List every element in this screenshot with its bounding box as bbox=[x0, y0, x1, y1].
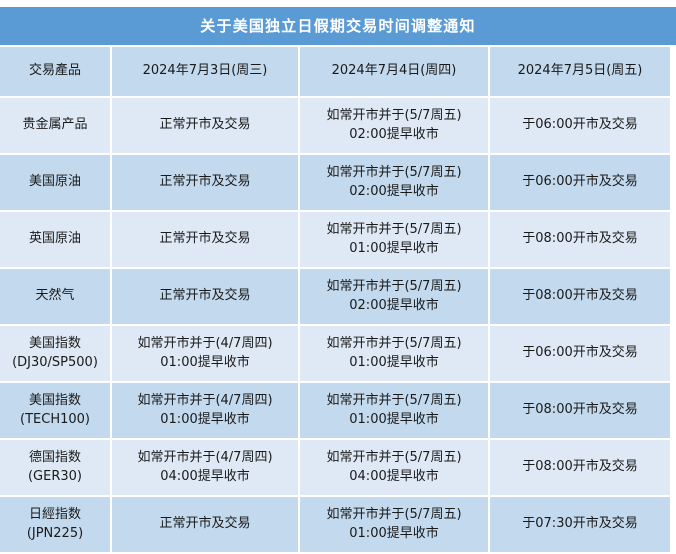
notice-container: 关于美国独立日假期交易时间调整通知 交易產品 2024年7月3日(周三) 202… bbox=[0, 0, 676, 554]
table-row: 天然气 正常开市及交易 如常开市并于(5/7周五) 02:00提早收市 于08:… bbox=[0, 269, 670, 326]
cell-line-2: 01:00提早收市 bbox=[304, 525, 484, 544]
cell-day2: 如常开市并于(5/7周五) 02:00提早收市 bbox=[300, 98, 490, 155]
cell-line-2: 01:00提早收市 bbox=[304, 240, 484, 259]
table-header: 交易產品 2024年7月3日(周三) 2024年7月4日(周四) 2024年7月… bbox=[0, 47, 670, 98]
cell-day1: 如常开市并于(4/7周四) 01:00提早收市 bbox=[112, 326, 300, 383]
cell-day2: 如常开市并于(5/7周五) 04:00提早收市 bbox=[300, 440, 490, 497]
cell-product: 美国指数 (DJ30/SP500) bbox=[0, 326, 112, 383]
cell-line-1: 如常开市并于(5/7周五) bbox=[304, 506, 484, 525]
product-name: 美国指数 bbox=[4, 335, 106, 354]
cell-line-1: 如常开市并于(5/7周五) bbox=[304, 221, 484, 240]
cell-line-1: 于08:00开市及交易 bbox=[494, 401, 666, 420]
cell-day2: 如常开市并于(5/7周五) 01:00提早收市 bbox=[300, 497, 490, 554]
table-row: 美国指数 (DJ30/SP500) 如常开市并于(4/7周四) 01:00提早收… bbox=[0, 326, 670, 383]
trading-hours-table: 交易產品 2024年7月3日(周三) 2024年7月4日(周四) 2024年7月… bbox=[0, 47, 670, 554]
cell-line-1: 于08:00开市及交易 bbox=[494, 287, 666, 306]
cell-day3: 于08:00开市及交易 bbox=[490, 440, 670, 497]
cell-day3: 于06:00开市及交易 bbox=[490, 155, 670, 212]
cell-line-1: 于06:00开市及交易 bbox=[494, 344, 666, 363]
cell-product: 日經指数 (JPN225) bbox=[0, 497, 112, 554]
cell-day1: 正常开市及交易 bbox=[112, 212, 300, 269]
cell-line-2: 02:00提早收市 bbox=[304, 126, 484, 145]
cell-line-1: 于07:30开市及交易 bbox=[494, 515, 666, 534]
cell-day1: 如常开市并于(4/7周四) 04:00提早收市 bbox=[112, 440, 300, 497]
cell-line-1: 正常开市及交易 bbox=[116, 173, 294, 192]
table-row: 德国指数 (GER30) 如常开市并于(4/7周四) 04:00提早收市 如常开… bbox=[0, 440, 670, 497]
cell-line-1: 如常开市并于(5/7周五) bbox=[304, 392, 484, 411]
table-row: 贵金属产品 正常开市及交易 如常开市并于(5/7周五) 02:00提早收市 于0… bbox=[0, 98, 670, 155]
product-code: (JPN225) bbox=[4, 525, 106, 544]
cell-day3: 于08:00开市及交易 bbox=[490, 383, 670, 440]
cell-line-1: 正常开市及交易 bbox=[116, 230, 294, 249]
cell-line-1: 正常开市及交易 bbox=[116, 515, 294, 534]
cell-line-2: 01:00提早收市 bbox=[116, 354, 294, 373]
cell-product: 天然气 bbox=[0, 269, 112, 326]
product-name: 美国指数 bbox=[4, 392, 106, 411]
cell-product: 美国指数 (TECH100) bbox=[0, 383, 112, 440]
product-code: (DJ30/SP500) bbox=[4, 354, 106, 373]
cell-line-2: 04:00提早收市 bbox=[116, 468, 294, 487]
table-row: 英国原油 正常开市及交易 如常开市并于(5/7周五) 01:00提早收市 于08… bbox=[0, 212, 670, 269]
cell-line-2: 01:00提早收市 bbox=[116, 411, 294, 430]
product-name: 贵金属产品 bbox=[4, 116, 106, 135]
cell-day3: 于08:00开市及交易 bbox=[490, 269, 670, 326]
product-code: (TECH100) bbox=[4, 411, 106, 430]
cell-line-1: 如常开市并于(4/7周四) bbox=[116, 449, 294, 468]
cell-day2: 如常开市并于(5/7周五) 01:00提早收市 bbox=[300, 212, 490, 269]
notice-title-banner: 关于美国独立日假期交易时间调整通知 bbox=[0, 7, 676, 45]
cell-day2: 如常开市并于(5/7周五) 02:00提早收市 bbox=[300, 155, 490, 212]
cell-line-1: 于06:00开市及交易 bbox=[494, 173, 666, 192]
product-name: 美国原油 bbox=[4, 173, 106, 192]
product-name: 日經指数 bbox=[4, 506, 106, 525]
cell-product: 英国原油 bbox=[0, 212, 112, 269]
table-row: 美国指数 (TECH100) 如常开市并于(4/7周四) 01:00提早收市 如… bbox=[0, 383, 670, 440]
cell-line-1: 如常开市并于(5/7周五) bbox=[304, 164, 484, 183]
cell-day3: 于07:30开市及交易 bbox=[490, 497, 670, 554]
cell-product: 德国指数 (GER30) bbox=[0, 440, 112, 497]
cell-day1: 正常开市及交易 bbox=[112, 497, 300, 554]
cell-line-1: 于06:00开市及交易 bbox=[494, 116, 666, 135]
table-row: 日經指数 (JPN225) 正常开市及交易 如常开市并于(5/7周五) 01:0… bbox=[0, 497, 670, 554]
cell-day3: 于06:00开市及交易 bbox=[490, 326, 670, 383]
cell-day1: 如常开市并于(4/7周四) 01:00提早收市 bbox=[112, 383, 300, 440]
cell-line-1: 正常开市及交易 bbox=[116, 287, 294, 306]
cell-day3: 于08:00开市及交易 bbox=[490, 212, 670, 269]
cell-day1: 正常开市及交易 bbox=[112, 269, 300, 326]
cell-day3: 于06:00开市及交易 bbox=[490, 98, 670, 155]
cell-line-2: 04:00提早收市 bbox=[304, 468, 484, 487]
product-name: 德国指数 bbox=[4, 449, 106, 468]
cell-line-1: 如常开市并于(5/7周五) bbox=[304, 449, 484, 468]
cell-day1: 正常开市及交易 bbox=[112, 155, 300, 212]
cell-line-1: 如常开市并于(4/7周四) bbox=[116, 392, 294, 411]
column-header-day3: 2024年7月5日(周五) bbox=[490, 47, 670, 98]
table-body: 贵金属产品 正常开市及交易 如常开市并于(5/7周五) 02:00提早收市 于0… bbox=[0, 98, 670, 554]
cell-line-1: 如常开市并于(5/7周五) bbox=[304, 107, 484, 126]
cell-line-2: 01:00提早收市 bbox=[304, 411, 484, 430]
cell-line-1: 于08:00开市及交易 bbox=[494, 458, 666, 477]
cell-day2: 如常开市并于(5/7周五) 02:00提早收市 bbox=[300, 269, 490, 326]
cell-product: 贵金属产品 bbox=[0, 98, 112, 155]
table-header-row: 交易產品 2024年7月3日(周三) 2024年7月4日(周四) 2024年7月… bbox=[0, 47, 670, 98]
cell-line-1: 如常开市并于(5/7周五) bbox=[304, 335, 484, 354]
product-name: 英国原油 bbox=[4, 230, 106, 249]
cell-day2: 如常开市并于(5/7周五) 01:00提早收市 bbox=[300, 326, 490, 383]
column-header-day1: 2024年7月3日(周三) bbox=[112, 47, 300, 98]
column-header-product: 交易產品 bbox=[0, 47, 112, 98]
product-name: 天然气 bbox=[4, 287, 106, 306]
cell-line-2: 02:00提早收市 bbox=[304, 183, 484, 202]
cell-line-1: 于08:00开市及交易 bbox=[494, 230, 666, 249]
cell-line-2: 01:00提早收市 bbox=[304, 354, 484, 373]
cell-product: 美国原油 bbox=[0, 155, 112, 212]
column-header-day2: 2024年7月4日(周四) bbox=[300, 47, 490, 98]
cell-day1: 正常开市及交易 bbox=[112, 98, 300, 155]
cell-line-1: 如常开市并于(4/7周四) bbox=[116, 335, 294, 354]
notice-title-text: 关于美国独立日假期交易时间调整通知 bbox=[200, 19, 475, 34]
cell-line-2: 02:00提早收市 bbox=[304, 297, 484, 316]
product-code: (GER30) bbox=[4, 468, 106, 487]
cell-line-1: 正常开市及交易 bbox=[116, 116, 294, 135]
cell-day2: 如常开市并于(5/7周五) 01:00提早收市 bbox=[300, 383, 490, 440]
cell-line-1: 如常开市并于(5/7周五) bbox=[304, 278, 484, 297]
table-row: 美国原油 正常开市及交易 如常开市并于(5/7周五) 02:00提早收市 于06… bbox=[0, 155, 670, 212]
